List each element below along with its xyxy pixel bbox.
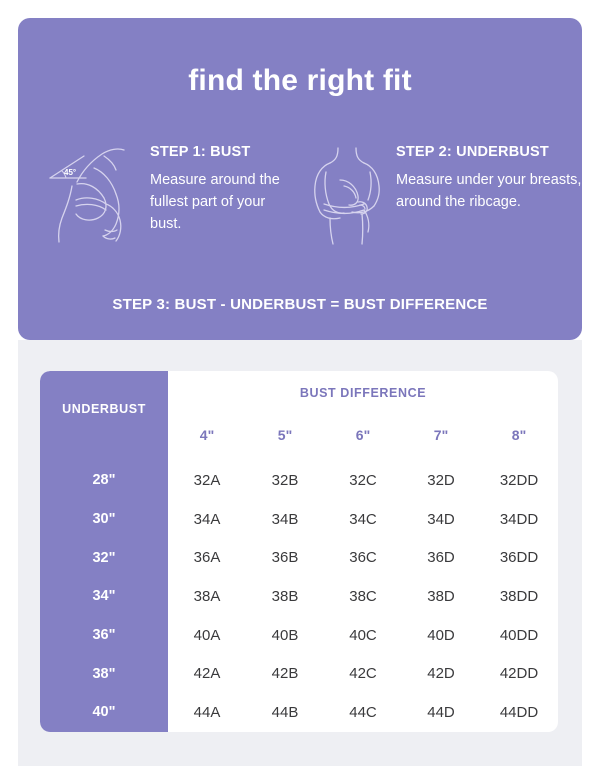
find-the-right-fit-card: find the right fit 45° [18,18,582,340]
size-cell: 32DD [480,472,558,489]
table-row: 30" 34A 34B 34C 34D 34DD [40,500,558,539]
size-cell: 34DD [480,511,558,528]
size-cell: 42C [324,665,402,682]
row-header-underbust: 32" [40,550,168,566]
table-row: 28" 32A 32B 32C 32D 32DD [40,461,558,500]
row-cells: 38A 38B 38C 38D 38DD [168,588,558,605]
size-cell: 40A [168,627,246,644]
size-cell: 40DD [480,627,558,644]
step-1-text: STEP 1: BUST Measure around the fullest … [150,142,300,235]
size-cell: 40B [246,627,324,644]
size-cell: 32D [402,472,480,489]
row-cells: 36A 36B 36C 36D 36DD [168,549,558,566]
size-chart-table: UNDERBUST BUST DIFFERENCE 4" 5" 6" 7" 8"… [40,371,558,732]
size-cell: 44C [324,704,402,721]
row-header-underbust: 36" [40,627,168,643]
row-header-underbust: 34" [40,588,168,604]
size-cell: 42DD [480,665,558,682]
table-row: 38" 42A 42B 42C 42D 42DD [40,654,558,693]
row-cells: 32A 32B 32C 32D 32DD [168,472,558,489]
step-2-heading: STEP 2: UNDERBUST [396,144,582,160]
size-cell: 38C [324,588,402,605]
row-header-underbust: 30" [40,511,168,527]
size-cell: 44A [168,704,246,721]
size-cell: 38D [402,588,480,605]
bust-difference-group-header: BUST DIFFERENCE [168,371,558,415]
step-1-heading: STEP 1: BUST [150,144,300,160]
size-cell: 36A [168,549,246,566]
size-cell: 32B [246,472,324,489]
size-cell: 36D [402,549,480,566]
bust-measure-illustration-icon: 45° [32,142,150,246]
size-cell: 34B [246,511,324,528]
table-body: 28" 32A 32B 32C 32D 32DD 30" 34A 34B 34C… [40,461,558,732]
size-cell: 32C [324,472,402,489]
row-cells: 44A 44B 44C 44D 44DD [168,704,558,721]
size-cell: 38DD [480,588,558,605]
underbust-column-header: UNDERBUST [40,371,168,447]
row-cells: 42A 42B 42C 42D 42DD [168,665,558,682]
size-cell: 42B [246,665,324,682]
table-row: 36" 40A 40B 40C 40D 40DD [40,616,558,655]
column-header-row: 4" 5" 6" 7" 8" [168,415,558,455]
size-cell: 40C [324,627,402,644]
column-header: 8" [480,415,558,455]
page-title: find the right fit [18,64,582,98]
row-header-underbust: 38" [40,666,168,682]
size-cell: 36C [324,549,402,566]
step-3-formula: STEP 3: BUST - UNDERBUST = BUST DIFFEREN… [18,296,582,313]
size-cell: 34C [324,511,402,528]
steps-row: 45° [18,142,582,246]
row-cells: 34A 34B 34C 34D 34DD [168,511,558,528]
size-cell: 44D [402,704,480,721]
size-cell: 42A [168,665,246,682]
angle-label: 45° [64,168,76,177]
size-cell: 40D [402,627,480,644]
step-2-body: Measure under your breasts, around the r… [396,169,582,213]
size-cell: 38B [246,588,324,605]
row-header-underbust: 40" [40,704,168,720]
size-cell: 44DD [480,704,558,721]
table-row: 40" 44A 44B 44C 44D 44DD [40,693,558,732]
table-row: 34" 38A 38B 38C 38D 38DD [40,577,558,616]
table-row: 32" 36A 36B 36C 36D 36DD [40,538,558,577]
column-header: 6" [324,415,402,455]
table-grid: UNDERBUST BUST DIFFERENCE 4" 5" 6" 7" 8"… [40,371,558,732]
size-cell: 36DD [480,549,558,566]
column-header: 5" [246,415,324,455]
size-cell: 42D [402,665,480,682]
size-cell: 44B [246,704,324,721]
size-cell: 32A [168,472,246,489]
step-1-body: Measure around the fullest part of your … [150,169,300,235]
row-header-underbust: 28" [40,472,168,488]
step-1: 45° [18,142,300,246]
size-cell: 34D [402,511,480,528]
step-2-text: STEP 2: UNDERBUST Measure under your bre… [396,142,582,213]
step-2: STEP 2: UNDERBUST Measure under your bre… [300,142,582,246]
size-cell: 34A [168,511,246,528]
column-header: 7" [402,415,480,455]
size-cell: 38A [168,588,246,605]
column-header: 4" [168,415,246,455]
underbust-measure-illustration-icon [300,142,396,246]
size-cell: 36B [246,549,324,566]
row-cells: 40A 40B 40C 40D 40DD [168,627,558,644]
